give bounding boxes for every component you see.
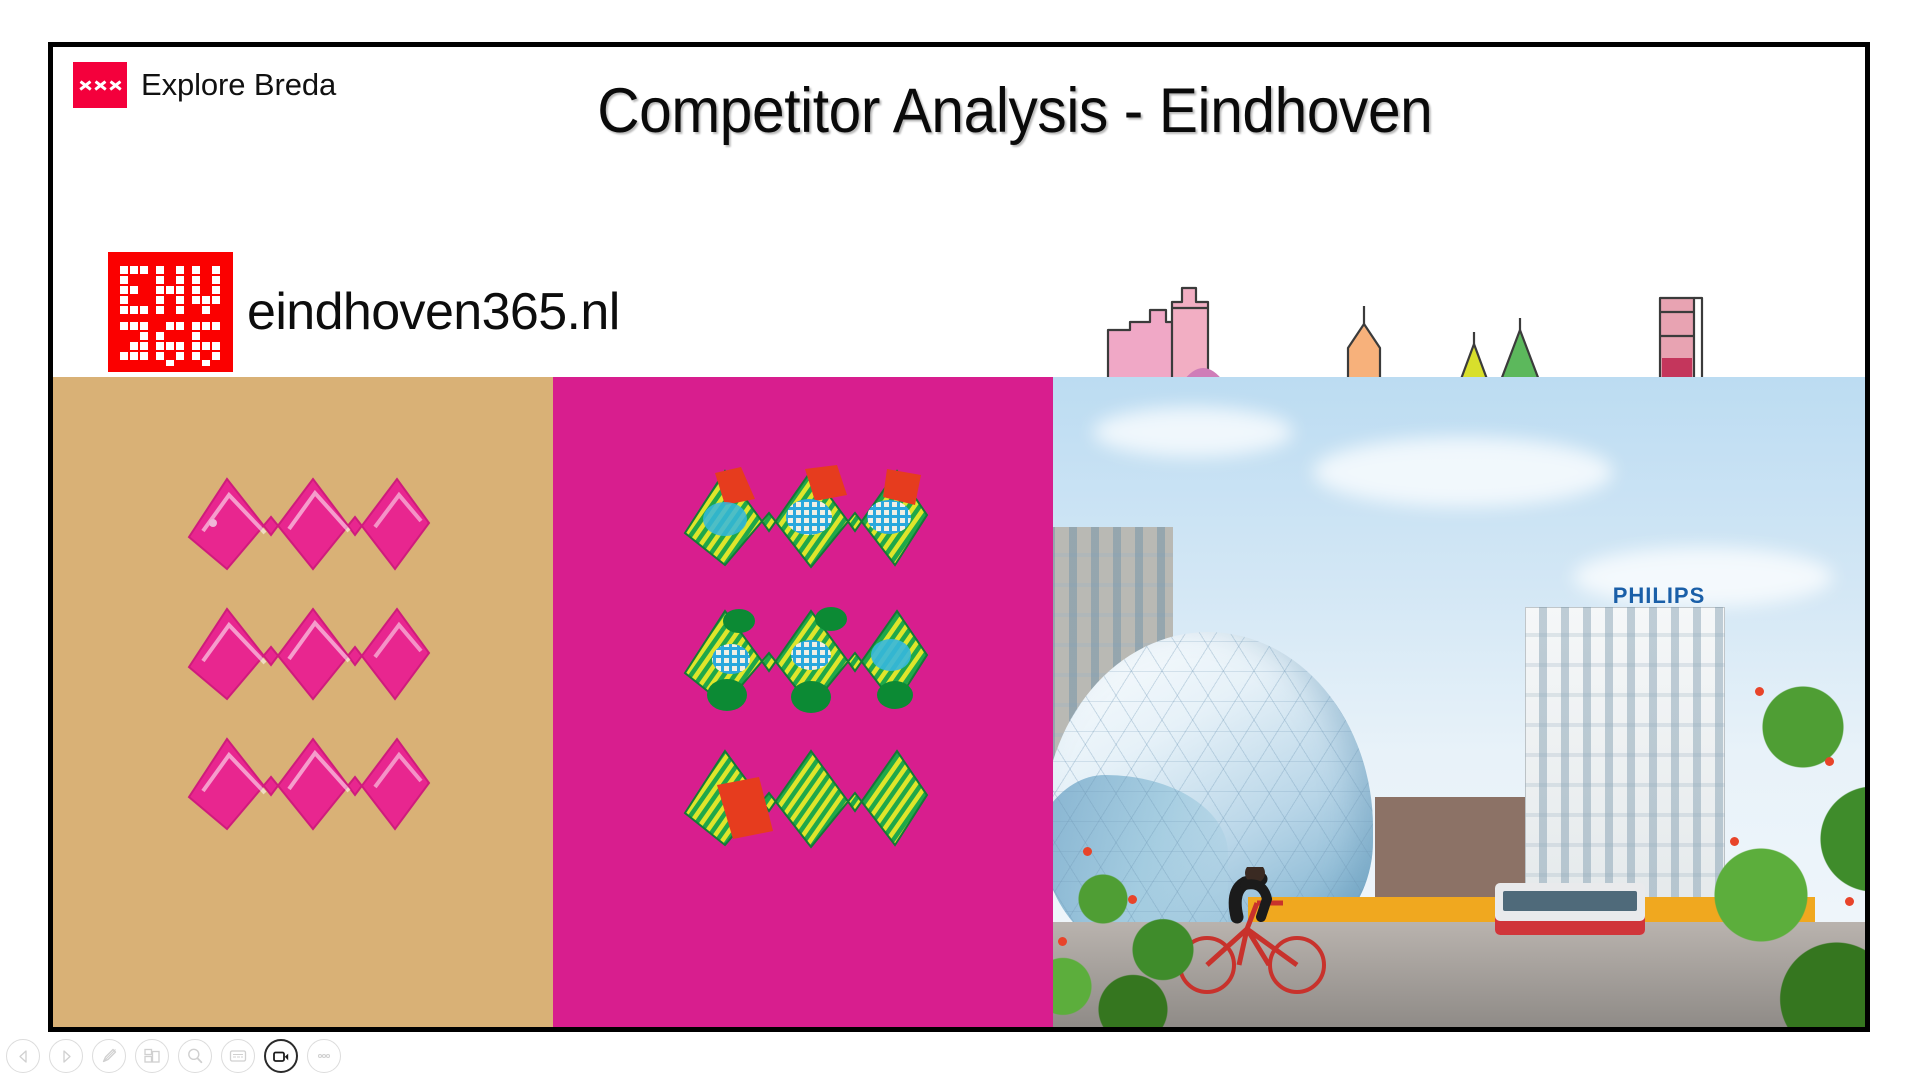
slide-canvas: Explore Breda Competitor Analysis - Eind… xyxy=(53,47,1865,1027)
grid-layout-icon xyxy=(143,1047,161,1065)
zoom-button[interactable] xyxy=(178,1039,212,1073)
video-camera-icon xyxy=(272,1047,291,1066)
presenter-screen-icon xyxy=(229,1047,247,1065)
slide-grid-button[interactable] xyxy=(135,1039,169,1073)
triangle-right-icon xyxy=(59,1049,74,1064)
philips-sign: PHILIPS xyxy=(1593,583,1725,609)
competitor-url: eindhoven365.nl xyxy=(247,282,620,342)
image-strip: PHILIPS xyxy=(53,377,1870,1027)
previous-slide-button[interactable] xyxy=(6,1039,40,1073)
image-green-striped-zigzags xyxy=(553,377,1053,1027)
image-eindhoven-city-photo: PHILIPS xyxy=(1053,377,1870,1027)
ellipsis-icon xyxy=(315,1047,333,1065)
pen-annotate-button[interactable] xyxy=(92,1039,126,1073)
triangle-left-icon xyxy=(16,1049,31,1064)
city-bus xyxy=(1495,883,1645,935)
presenter-view-button[interactable] xyxy=(221,1039,255,1073)
competitor-logo-lockup: eindhoven365.nl xyxy=(108,252,620,372)
foliage-left xyxy=(1053,807,1223,1027)
more-options-button[interactable] xyxy=(307,1039,341,1073)
magnifier-icon xyxy=(186,1047,204,1065)
presentation-slide-frame[interactable]: Explore Breda Competitor Analysis - Eind… xyxy=(48,42,1870,1032)
pen-icon xyxy=(100,1047,118,1065)
foliage-right xyxy=(1635,647,1870,1027)
camera-button[interactable] xyxy=(264,1039,298,1073)
page-title: Competitor Analysis - Eindhoven xyxy=(116,75,1801,147)
eindhoven365-pixel-logo-icon xyxy=(108,252,233,372)
presentation-toolbar[interactable] xyxy=(0,1032,1920,1080)
image-pink-inflatable-zigzags xyxy=(53,377,553,1027)
next-slide-button[interactable] xyxy=(49,1039,83,1073)
